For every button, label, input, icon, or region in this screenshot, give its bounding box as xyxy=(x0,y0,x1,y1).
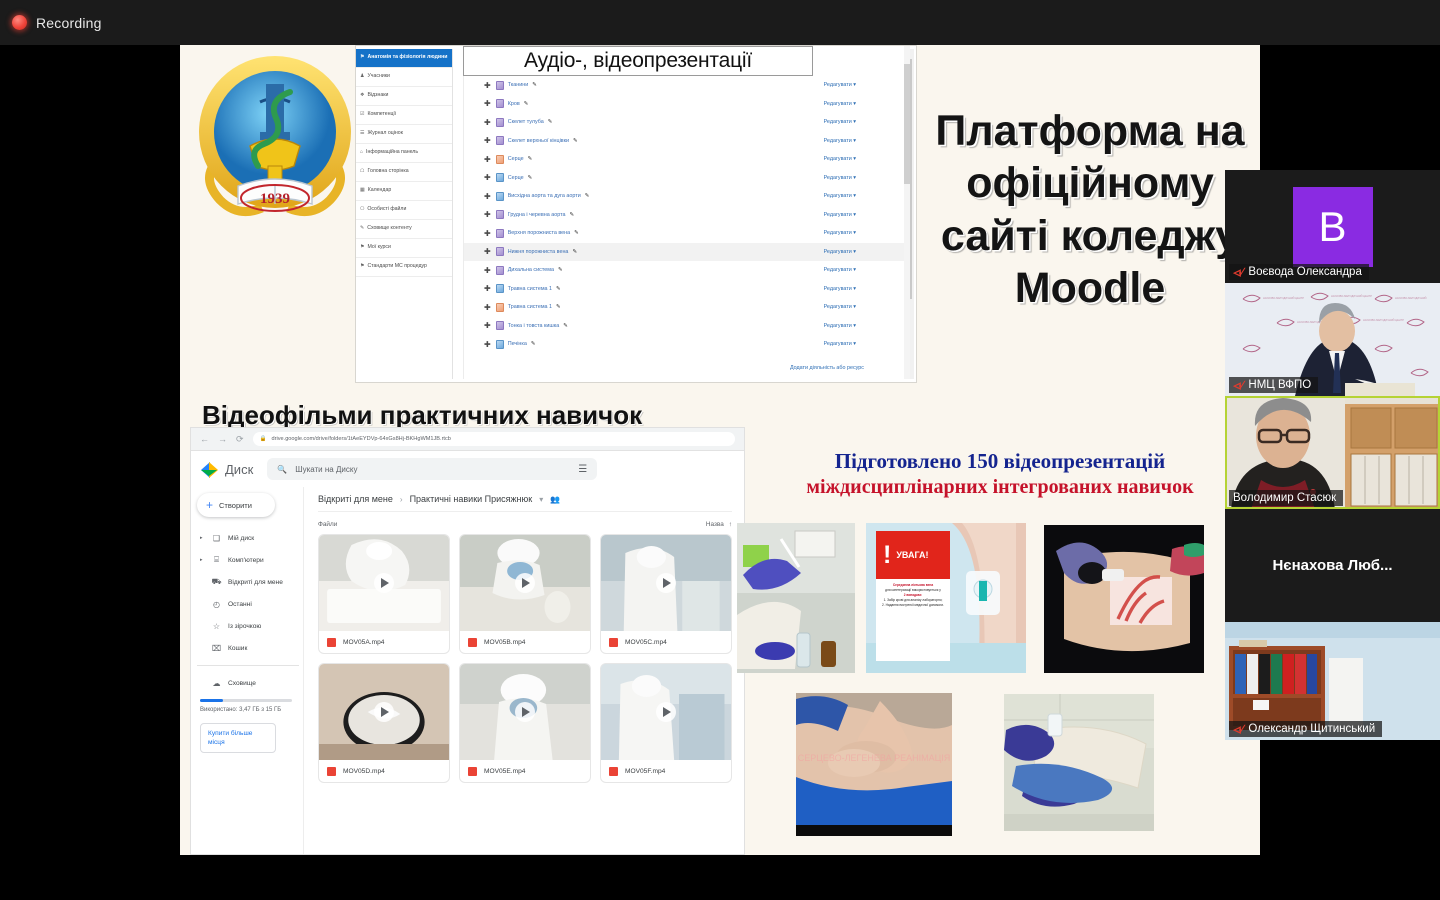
drive-nav-item-label: Останні xyxy=(228,601,252,608)
file-icon: ⎔ xyxy=(360,206,364,214)
moodle-nav-item-label: Відзнаки xyxy=(367,92,388,100)
edit-menu-link[interactable]: Редагувати ▾ xyxy=(824,304,856,310)
resource-file-icon xyxy=(496,210,504,219)
moodle-nav-item-label: Стандарти МС процедур xyxy=(367,263,426,271)
edit-menu-link[interactable]: Редагувати ▾ xyxy=(824,82,856,88)
file-thumbnail[interactable] xyxy=(319,664,449,760)
participant-label: ⏿∕ Олександр Щитинський xyxy=(1229,721,1382,737)
file-card[interactable]: MOV05E.mp4 xyxy=(459,663,591,783)
participant-name: Володимир Стасюк xyxy=(1233,492,1336,504)
lock-icon: 🔒 xyxy=(260,436,267,442)
resource-name[interactable]: Верхня порожниста вена xyxy=(508,230,570,236)
pencil-icon[interactable]: ✎ xyxy=(556,304,561,310)
moodle-nav-item-3[interactable]: ☑Компетенції xyxy=(356,106,452,125)
moodle-resource-row[interactable]: ✚Серце✎Редагувати ▾ xyxy=(464,150,910,169)
video-file-icon xyxy=(468,767,477,776)
play-icon[interactable] xyxy=(515,702,535,722)
mic-muted-icon: ⏿∕ xyxy=(1233,379,1243,391)
play-icon[interactable] xyxy=(515,573,535,593)
play-icon[interactable] xyxy=(374,573,394,593)
moodle-nav-item-10[interactable]: ⚑Мої курси xyxy=(356,239,452,258)
create-button[interactable]: + Створити xyxy=(197,493,275,517)
resource-name[interactable]: Нижня порожниста вена xyxy=(508,249,569,255)
pencil-icon[interactable]: ✎ xyxy=(563,323,568,329)
participant-tile-shchytynskyi[interactable]: ⏿∕ Нєнахова Любов Петрівна ⏿∕ xyxy=(1225,622,1440,740)
move-handle-icon[interactable]: ✚ xyxy=(484,266,491,275)
resource-name[interactable]: Скелет верхньої кінцівки xyxy=(508,138,569,144)
users-icon: ♟ xyxy=(360,73,364,81)
drive-nav-item-4[interactable]: ☆Із зірочкою xyxy=(197,615,303,637)
participant-tile-nmc-vfpo[interactable]: НАУКОВО-МЕТОДИЧНИЙ ЦЕНТР НАУКОВО-МЕТОДИЧ… xyxy=(1225,283,1440,396)
moodle-resource-row[interactable]: ✚Нижня порожниста вена✎Редагувати ▾ xyxy=(464,243,910,262)
moodle-screenshot: ⚑Анатомія та фізіологія людини♟Учасники❖… xyxy=(355,45,917,383)
play-icon[interactable] xyxy=(656,573,676,593)
resource-file-icon xyxy=(496,192,504,201)
resource-name[interactable]: Тканини xyxy=(508,82,529,88)
edit-menu-link[interactable]: Редагувати ▾ xyxy=(824,101,856,107)
file-card[interactable]: MOV05F.mp4 xyxy=(600,663,732,783)
drive-nav-item-label: Комп'ютери xyxy=(228,557,264,564)
resource-name[interactable]: Кров xyxy=(508,101,520,107)
shared-people-icon: ⛟ xyxy=(211,577,222,587)
move-handle-icon[interactable]: ✚ xyxy=(484,303,491,312)
breadcrumb[interactable]: Відкриті для мене › Практичні навики При… xyxy=(318,494,732,512)
files-header-label: Файли xyxy=(318,521,337,528)
pencil-icon: ✎ xyxy=(360,225,364,233)
file-name: MOV05D.mp4 xyxy=(343,768,385,775)
edit-menu-link[interactable]: Редагувати ▾ xyxy=(824,267,856,273)
resource-file-icon xyxy=(496,99,504,108)
gradebook-icon: ☰ xyxy=(360,130,364,138)
drive-file-area: Відкриті для мене › Практичні навики При… xyxy=(303,487,744,855)
play-icon[interactable] xyxy=(656,702,676,722)
search-icon: 🔍 xyxy=(277,465,287,474)
file-grid: MOV05A.mp4MOV05B.mp4MOV05C.mp4MOV05D.mp4… xyxy=(318,534,732,783)
participant-name: НМЦ ВФПО xyxy=(1248,379,1311,391)
file-name: MOV05C.mp4 xyxy=(625,639,667,646)
search-placeholder: Шукати на Диску xyxy=(295,465,357,474)
move-handle-icon[interactable]: ✚ xyxy=(484,81,491,90)
svg-text:НАУКОВО-МЕТОДИЧНИЙ ЦЕНТР: НАУКОВО-МЕТОДИЧНИЙ ЦЕНТР xyxy=(1363,318,1404,322)
moodle-nav-item-0[interactable]: ⚑Анатомія та фізіологія людини xyxy=(356,49,452,68)
file-name: MOV05E.mp4 xyxy=(484,768,525,775)
edit-menu-link[interactable]: Редагувати ▾ xyxy=(824,119,856,125)
add-activity-link[interactable]: Додати діяльність або ресурс xyxy=(790,365,864,371)
move-handle-icon[interactable]: ✚ xyxy=(484,192,491,201)
graduation-cap-icon: ⚑ xyxy=(360,244,364,252)
video-file-icon xyxy=(468,638,477,647)
create-button-label: Створити xyxy=(219,501,252,510)
address-bar-url: drive.google.com/drive/folders/1tAeEYDVp… xyxy=(272,436,451,442)
shared-slide: 1939 ⚑Анатомія та фізіологія людини♟Учас… xyxy=(180,45,1260,855)
pencil-icon[interactable]: ✎ xyxy=(573,138,578,144)
resource-name[interactable]: Скелет тулуба xyxy=(508,119,544,125)
pencil-icon[interactable]: ✎ xyxy=(585,193,590,199)
file-name: MOV05A.mp4 xyxy=(343,639,384,646)
breadcrumb-item-1[interactable]: Практичні навики Присяжнюк xyxy=(410,494,533,504)
resource-file-icon xyxy=(496,303,504,312)
resource-name[interactable]: Тонка і товста кишка xyxy=(508,323,560,329)
moodle-nav-item-4[interactable]: ☰Журнал оцінок xyxy=(356,125,452,144)
moodle-resource-row[interactable]: ✚Травна система 1✎Редагувати ▾ xyxy=(464,298,910,317)
moodle-nav-item-label: Інформаційна панель xyxy=(366,149,418,157)
participant-label: Володимир Стасюк xyxy=(1229,490,1343,506)
search-filter-icon[interactable]: ☰ xyxy=(578,464,587,475)
resource-name[interactable]: Висхідна аорта та дуга аорти xyxy=(508,193,581,199)
file-card[interactable]: MOV05B.mp4 xyxy=(459,534,591,654)
edit-menu-link[interactable]: Редагувати ▾ xyxy=(824,286,856,292)
drive-nav-item-label: Мій диск xyxy=(228,535,254,542)
clock-icon: ◴ xyxy=(211,600,222,609)
video-file-icon xyxy=(327,767,336,776)
resource-file-icon xyxy=(496,155,504,164)
file-thumbnail[interactable] xyxy=(460,664,590,760)
mic-muted-icon: ⏿∕ xyxy=(1233,723,1243,735)
move-handle-icon[interactable]: ✚ xyxy=(484,136,491,145)
edit-menu-link[interactable]: Редагувати ▾ xyxy=(824,323,856,329)
sort-label[interactable]: Назва xyxy=(706,521,724,528)
resource-name[interactable]: Печінка xyxy=(508,341,527,347)
file-thumbnail[interactable] xyxy=(460,535,590,631)
checklist-icon: ☑ xyxy=(360,111,364,119)
move-handle-icon[interactable]: ✚ xyxy=(484,247,491,256)
drive-triangle-icon xyxy=(201,462,218,477)
chevron-right-icon: › xyxy=(400,495,403,504)
warning-title: УВАГА! xyxy=(896,550,928,560)
moodle-resource-row[interactable]: ✚Дихальна система✎Редагувати ▾ xyxy=(464,261,910,280)
moodle-nav-item-label: Журнал оцінок xyxy=(367,130,402,138)
move-handle-icon[interactable]: ✚ xyxy=(484,340,491,349)
chevron-right-icon[interactable]: ▸ xyxy=(200,557,205,563)
moodle-resource-row[interactable]: ✚Скелет тулуба✎Редагувати ▾ xyxy=(464,113,910,132)
file-thumbnail[interactable] xyxy=(601,535,731,631)
moodle-resource-row[interactable]: ✚Грудна і черевна аорта✎Редагувати ▾ xyxy=(464,206,910,225)
reload-icon[interactable]: ⟳ xyxy=(236,434,244,445)
mic-muted-icon: ⏿∕ xyxy=(1233,266,1243,278)
recording-indicator-icon xyxy=(12,15,27,30)
participant-label: ⏿∕ Воєвода Олександра xyxy=(1229,264,1369,280)
video-file-icon xyxy=(609,767,618,776)
resource-name[interactable]: Серце xyxy=(508,175,524,181)
photo-cpr-compressions: СЕРЦЕВО-ЛЕГЕНЕВА РЕАНІМАЦІЯ xyxy=(796,693,952,836)
drive-nav-item-label: Кошик xyxy=(228,645,247,652)
dashboard-icon: ⌂ xyxy=(360,149,363,157)
edit-menu-link[interactable]: Редагувати ▾ xyxy=(824,193,856,199)
google-drive-screenshot: ← → ⟳ 🔒 drive.google.com/drive/folders/1… xyxy=(190,427,745,855)
file-card[interactable]: MOV05C.mp4 xyxy=(600,534,732,654)
exclamation-icon: ! xyxy=(883,543,891,568)
forward-icon[interactable]: → xyxy=(218,434,227,444)
moodle-nav-item-2[interactable]: ❖Відзнаки xyxy=(356,87,452,106)
stat-line-1: Підготовлено 150 відеопрезентацій xyxy=(740,449,1260,474)
drive-icon: ❑ xyxy=(211,534,222,543)
moodle-resource-row[interactable]: ✚Тонка і товста кишка✎Редагувати ▾ xyxy=(464,317,910,336)
drive-sidebar: + Створити ▸❑Мій диск▸⌸Комп'ютери⛟Відкри… xyxy=(191,487,303,855)
participant-rail: В ⏿∕ Воєвода Олександра НАУКОВО-МЕТОДИЧН… xyxy=(1225,170,1440,740)
warning-banner: ! УВАГА! xyxy=(876,531,950,579)
move-handle-icon[interactable]: ✚ xyxy=(484,210,491,219)
photo-sterile-table xyxy=(1004,694,1154,831)
resource-file-icon xyxy=(496,118,504,127)
pencil-icon[interactable]: ✎ xyxy=(531,341,536,347)
cloud-icon: ☁ xyxy=(211,679,222,688)
participant-name: Олександр Щитинський xyxy=(1248,723,1375,735)
video-file-icon xyxy=(327,638,336,647)
sort-arrow-up-icon[interactable]: ↑ xyxy=(729,521,732,528)
svg-text:НАУКОВО-МЕТОДИЧНИЙ ЦЕНТР: НАУКОВО-МЕТОДИЧНИЙ ЦЕНТР xyxy=(1263,296,1304,300)
drive-nav-item-3[interactable]: ◴Останні xyxy=(197,593,303,615)
participant-tile-nenakhova[interactable]: Нєнахова Люб... xyxy=(1225,509,1440,622)
graduation-cap-icon: ⚑ xyxy=(360,263,364,271)
photo-vein-viewer xyxy=(1044,525,1204,673)
resource-name[interactable]: Серце xyxy=(508,156,524,162)
move-handle-icon[interactable]: ✚ xyxy=(484,118,491,127)
avatar: В xyxy=(1293,187,1373,267)
resource-file-icon xyxy=(496,247,504,256)
moodle-nav-item-7[interactable]: ▦Календар xyxy=(356,182,452,201)
drive-brand-label: Диск xyxy=(225,462,253,477)
badge-icon: ❖ xyxy=(360,92,364,100)
shared-people-icon: 👥 xyxy=(550,495,560,504)
drive-nav-item-1[interactable]: ▸⌸Комп'ютери xyxy=(197,549,303,571)
photo-syringe-preparation xyxy=(737,523,855,673)
file-card[interactable]: MOV05D.mp4 xyxy=(318,663,450,783)
recording-label: Recording xyxy=(36,15,102,31)
storage-quota-text: Використано: 3,47 ГБ з 15 ГБ xyxy=(197,706,297,715)
moodle-nav-item-6[interactable]: ☖Головна сторінка xyxy=(356,163,452,182)
audio-video-presentations-title: Аудіо-, відеопрезентації xyxy=(463,46,813,76)
file-thumbnail[interactable] xyxy=(601,664,731,760)
resource-name[interactable]: Дихальна система xyxy=(508,267,554,273)
resource-file-icon xyxy=(496,340,504,349)
moodle-nav-item-label: Компетенції xyxy=(367,111,396,119)
svg-text:1939: 1939 xyxy=(260,191,290,207)
drive-nav-item-0[interactable]: ▸❑Мій диск xyxy=(197,527,303,549)
storage-progress-bar xyxy=(200,699,292,702)
drive-nav-item-label: Із зірочкою xyxy=(228,623,261,630)
pencil-icon[interactable]: ✎ xyxy=(528,156,533,162)
buy-more-storage-button[interactable]: Купити більше місця xyxy=(200,723,276,753)
move-handle-icon[interactable]: ✚ xyxy=(484,173,491,182)
svg-text:СЕРЦЕВО-ЛЕГЕНЕВА РЕАНІМАЦІЯ: СЕРЦЕВО-ЛЕГЕНЕВА РЕАНІМАЦІЯ xyxy=(798,753,951,763)
move-handle-icon[interactable]: ✚ xyxy=(484,99,491,108)
resource-file-icon xyxy=(496,266,504,275)
pencil-icon[interactable]: ✎ xyxy=(528,175,533,181)
play-icon[interactable] xyxy=(374,702,394,722)
drive-header: Диск 🔍 Шукати на Диску ☰ xyxy=(191,451,744,487)
drive-nav-item-2[interactable]: ⛟Відкриті для мене xyxy=(197,571,303,593)
moodle-nav-item-8[interactable]: ⎔Особисті файли xyxy=(356,201,452,220)
moodle-nav-item-5[interactable]: ⌂Інформаційна панель xyxy=(356,144,452,163)
moodle-resource-row[interactable]: ✚Верхня порожниста вена✎Редагувати ▾ xyxy=(464,224,910,243)
chevron-down-icon[interactable]: ▾ xyxy=(539,495,543,504)
back-icon[interactable]: ← xyxy=(200,434,209,444)
resource-file-icon xyxy=(496,173,504,182)
calendar-icon: ▦ xyxy=(360,187,365,195)
pencil-icon[interactable]: ✎ xyxy=(574,230,579,236)
warning-item-2: 2. Надання екстреної медичної допомоги. xyxy=(880,603,946,608)
graduation-cap-icon: ⚑ xyxy=(360,54,364,62)
pencil-icon[interactable]: ✎ xyxy=(572,249,577,255)
resource-file-icon xyxy=(496,284,504,293)
moodle-list-scrollbar[interactable] xyxy=(904,46,910,379)
divider xyxy=(197,665,299,666)
svg-text:НАУКОВО-МЕТОДИЧНИЙ ЦЕНТР: НАУКОВО-МЕТОДИЧНИЙ ЦЕНТР xyxy=(1331,294,1372,298)
resource-file-icon xyxy=(496,81,504,90)
edit-menu-link[interactable]: Редагувати ▾ xyxy=(824,138,856,144)
moodle-nav-item-label: Мої курси xyxy=(367,244,390,252)
pencil-icon[interactable]: ✎ xyxy=(556,286,561,292)
edit-menu-link[interactable]: Редагувати ▾ xyxy=(824,230,856,236)
moodle-nav-item-label: Учасники xyxy=(367,73,389,81)
moodle-nav-item-9[interactable]: ✎Сховище контенту xyxy=(356,220,452,239)
resource-file-icon xyxy=(496,229,504,238)
drive-nav-item-label: Відкриті для мене xyxy=(228,579,283,586)
moodle-resource-row[interactable]: ✚Кров✎Редагувати ▾ xyxy=(464,95,910,114)
stat-line-2: міждисциплінарних інтегрованих навичок xyxy=(740,476,1260,499)
plus-icon: + xyxy=(206,499,213,511)
participant-label: ⏿∕ НМЦ ВФПО xyxy=(1229,377,1318,393)
moodle-nav-item-label: Особисті файли xyxy=(367,206,406,214)
file-thumbnail[interactable] xyxy=(319,535,449,631)
moodle-resource-row[interactable]: ✚Скелет верхньої кінцівки✎Редагувати ▾ xyxy=(464,132,910,151)
participant-tile-stasiuk[interactable]: Володимир Стасюк xyxy=(1225,396,1440,509)
pencil-icon[interactable]: ✎ xyxy=(532,82,537,88)
breadcrumb-item-0[interactable]: Відкриті для мене xyxy=(318,494,393,504)
moodle-nav-item-1[interactable]: ♟Учасники xyxy=(356,68,452,87)
move-handle-icon[interactable]: ✚ xyxy=(484,155,491,164)
move-handle-icon[interactable]: ✚ xyxy=(484,321,491,330)
resource-file-icon xyxy=(496,136,504,145)
drive-logo: Диск xyxy=(201,462,253,477)
edit-menu-link[interactable]: Редагувати ▾ xyxy=(824,212,856,218)
moodle-nav-item-label: Головна сторінка xyxy=(367,168,408,176)
warning-card: ! УВАГА! Серединна ліктьова вена для кат… xyxy=(876,531,950,661)
drive-nav-item-label: Сховище xyxy=(228,680,256,687)
browser-chrome: ← → ⟳ 🔒 drive.google.com/drive/folders/1… xyxy=(191,428,744,451)
file-name: MOV05F.mp4 xyxy=(625,768,665,775)
moodle-resource-row[interactable]: ✚Печінка✎Редагувати ▾ xyxy=(464,335,910,354)
moodle-resource-row[interactable]: ✚Тканини✎Редагувати ▾ xyxy=(464,76,910,95)
slide-hero-title: Платформа на офіційному сайті коледжу Mo… xyxy=(925,105,1255,315)
move-handle-icon[interactable]: ✚ xyxy=(484,284,491,293)
moodle-nav-item-label: Календар xyxy=(368,187,391,195)
video-file-icon xyxy=(609,638,618,647)
moodle-resource-list[interactable]: ✚Тканини✎Редагувати ▾✚Кров✎Редагувати ▾✚… xyxy=(463,46,910,379)
address-bar[interactable]: 🔒 drive.google.com/drive/folders/1tAeEYD… xyxy=(253,432,735,446)
trash-icon: ⌧ xyxy=(211,644,222,653)
moodle-nav-item-label: Анатомія та фізіологія людини xyxy=(367,54,447,62)
photo-venipuncture-warning: ! УВАГА! Серединна ліктьова вена для кат… xyxy=(866,523,1026,673)
drive-nav-item-6[interactable]: ☁Сховище xyxy=(197,672,303,694)
recording-bar: Recording xyxy=(0,0,1440,45)
edit-menu-link[interactable]: Редагувати ▾ xyxy=(824,341,856,347)
drive-search-input[interactable]: 🔍 Шукати на Диску ☰ xyxy=(267,458,597,480)
participant-name: Воєвода Олександра xyxy=(1248,266,1361,278)
moodle-resource-row[interactable]: ✚Травна система 1✎Редагувати ▾ xyxy=(464,280,910,299)
star-icon: ☆ xyxy=(211,622,222,631)
participant-display-name: Нєнахова Люб... xyxy=(1272,557,1392,574)
resource-name[interactable]: Травна система 1 xyxy=(508,286,552,292)
computer-icon: ⌸ xyxy=(211,555,222,565)
edit-menu-link[interactable]: Редагувати ▾ xyxy=(824,156,856,162)
pencil-icon[interactable]: ✎ xyxy=(558,267,563,273)
moodle-course-nav[interactable]: ⚑Анатомія та фізіологія людини♟Учасники❖… xyxy=(356,49,453,379)
resource-file-icon xyxy=(496,321,504,330)
participant-tile-voyevoda[interactable]: В ⏿∕ Воєвода Олександра xyxy=(1225,170,1440,283)
chevron-right-icon[interactable]: ▸ xyxy=(200,535,205,541)
scrollbar-thumb[interactable] xyxy=(904,64,910,184)
pencil-icon[interactable]: ✎ xyxy=(570,212,575,218)
pencil-icon[interactable]: ✎ xyxy=(548,119,553,125)
edit-menu-link[interactable]: Редагувати ▾ xyxy=(824,175,856,181)
resource-name[interactable]: Грудна і черевна аорта xyxy=(508,212,566,218)
move-handle-icon[interactable]: ✚ xyxy=(484,229,491,238)
resource-name[interactable]: Травна система 1 xyxy=(508,304,552,310)
moodle-nav-item-label: Сховище контенту xyxy=(367,225,412,233)
file-card[interactable]: MOV05A.mp4 xyxy=(318,534,450,654)
edit-menu-link[interactable]: Редагувати ▾ xyxy=(824,249,856,255)
moodle-resource-row[interactable]: ✚Висхідна аорта та дуга аорти✎Редагувати… xyxy=(464,187,910,206)
moodle-resource-row[interactable]: ✚Серце✎Редагувати ▾ xyxy=(464,169,910,188)
college-emblem-icon: 1939 xyxy=(190,50,360,220)
svg-text:НАУКОВО-МЕТОДИЧНИЙ: НАУКОВО-МЕТОДИЧНИЙ xyxy=(1395,296,1427,300)
file-name: MOV05B.mp4 xyxy=(484,639,525,646)
pencil-icon[interactable]: ✎ xyxy=(524,101,529,107)
moodle-nav-item-11[interactable]: ⚑Стандарти МС процедур xyxy=(356,258,452,277)
drive-nav-item-5[interactable]: ⌧Кошик xyxy=(197,637,303,659)
home-icon: ☖ xyxy=(360,168,364,176)
